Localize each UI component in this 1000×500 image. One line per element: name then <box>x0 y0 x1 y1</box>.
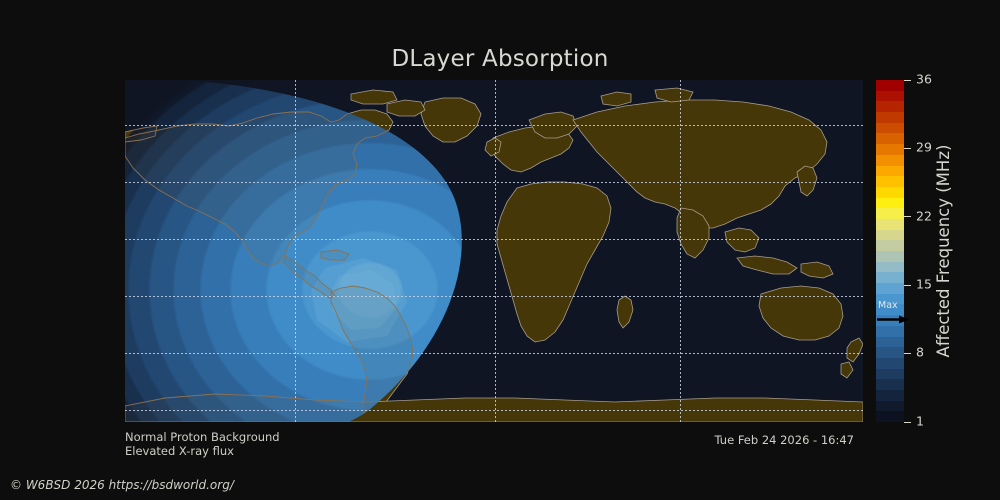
colorbar-band-17 <box>876 230 904 241</box>
dlayer-absorption-page: DLayer Absorption <box>0 0 1000 500</box>
colorbar-band-1 <box>876 401 904 412</box>
colorbar-band-12 <box>876 283 904 294</box>
colorbar-band-29 <box>876 101 904 112</box>
colorbar-band-24 <box>876 155 904 166</box>
colorbar-band-6 <box>876 347 904 358</box>
colorbar-band-23 <box>876 166 904 177</box>
colorbar-band-28 <box>876 112 904 123</box>
colorbar-band-25 <box>876 144 904 155</box>
colorbar-band-15 <box>876 251 904 262</box>
colorbar-band-18 <box>876 219 904 230</box>
colorbar-band-0 <box>876 411 904 422</box>
colorbar-tick-dash <box>904 80 911 81</box>
colorbar-tick-dash <box>904 148 911 149</box>
colorbar-band-8 <box>876 326 904 337</box>
colorbar-band-20 <box>876 198 904 209</box>
colorbar-band-22 <box>876 176 904 187</box>
page-title: DLayer Absorption <box>0 46 1000 72</box>
colorbar-band-5 <box>876 358 904 369</box>
copyright-label: © W6BSD 2026 https://bsdworld.org/ <box>10 478 234 492</box>
colorbar-gradient <box>876 80 904 422</box>
colorbar-band-27 <box>876 123 904 134</box>
colorbar-tick-label: 1 <box>916 415 924 428</box>
colorbar-band-31 <box>876 80 904 91</box>
colorbar-tick-dash <box>904 353 911 354</box>
colorbar-axis-label: Affected Frequency (MHz) <box>930 80 958 422</box>
colorbar-band-2 <box>876 390 904 401</box>
colorbar-tick-dash <box>904 216 911 217</box>
colorbar-band-13 <box>876 272 904 283</box>
note-proton-background: Normal Proton Background <box>125 430 280 444</box>
timestamp-label: Tue Feb 24 2026 - 16:47 <box>715 433 854 447</box>
colorbar-tick-label: 8 <box>916 347 924 360</box>
colorbar-band-4 <box>876 369 904 380</box>
colorbar-max-label: Max <box>878 301 898 311</box>
colorbar-band-16 <box>876 240 904 251</box>
colorbar-band-21 <box>876 187 904 198</box>
gridlines-svg <box>125 80 863 422</box>
map-gridlines-layer <box>125 80 863 422</box>
colorbar-band-3 <box>876 379 904 390</box>
colorbar-band-19 <box>876 208 904 219</box>
colorbar-tick-dash <box>904 285 911 286</box>
colorbar-band-14 <box>876 262 904 273</box>
colorbar[interactable] <box>876 80 904 422</box>
colorbar-band-7 <box>876 337 904 348</box>
colorbar-band-26 <box>876 133 904 144</box>
colorbar-tick-dash <box>904 422 911 423</box>
note-xray-flux: Elevated X-ray flux <box>125 444 234 458</box>
colorbar-band-30 <box>876 91 904 102</box>
world-map-panel[interactable] <box>125 80 863 422</box>
